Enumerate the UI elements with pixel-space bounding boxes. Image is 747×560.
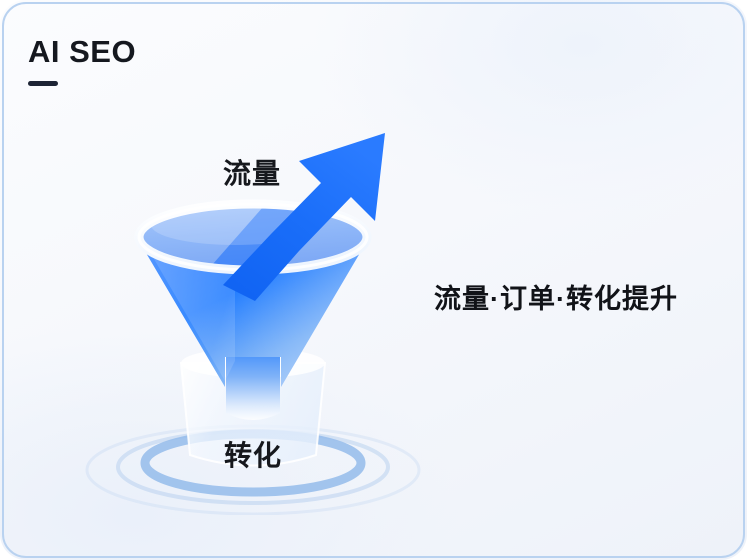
title-underline-rule [28, 81, 58, 86]
funnel-label-traffic: 流量 [223, 152, 281, 192]
tagline-text: 流量·订单·转化提升 [434, 277, 678, 316]
slide-canvas: AI SEO 流量·订单·转化提升 [0, 0, 747, 560]
funnel-stem [226, 353, 280, 420]
title-block: AI SEO [28, 36, 136, 86]
page-title: AI SEO [28, 36, 136, 67]
funnel-label-conversion: 转化 [224, 434, 282, 474]
